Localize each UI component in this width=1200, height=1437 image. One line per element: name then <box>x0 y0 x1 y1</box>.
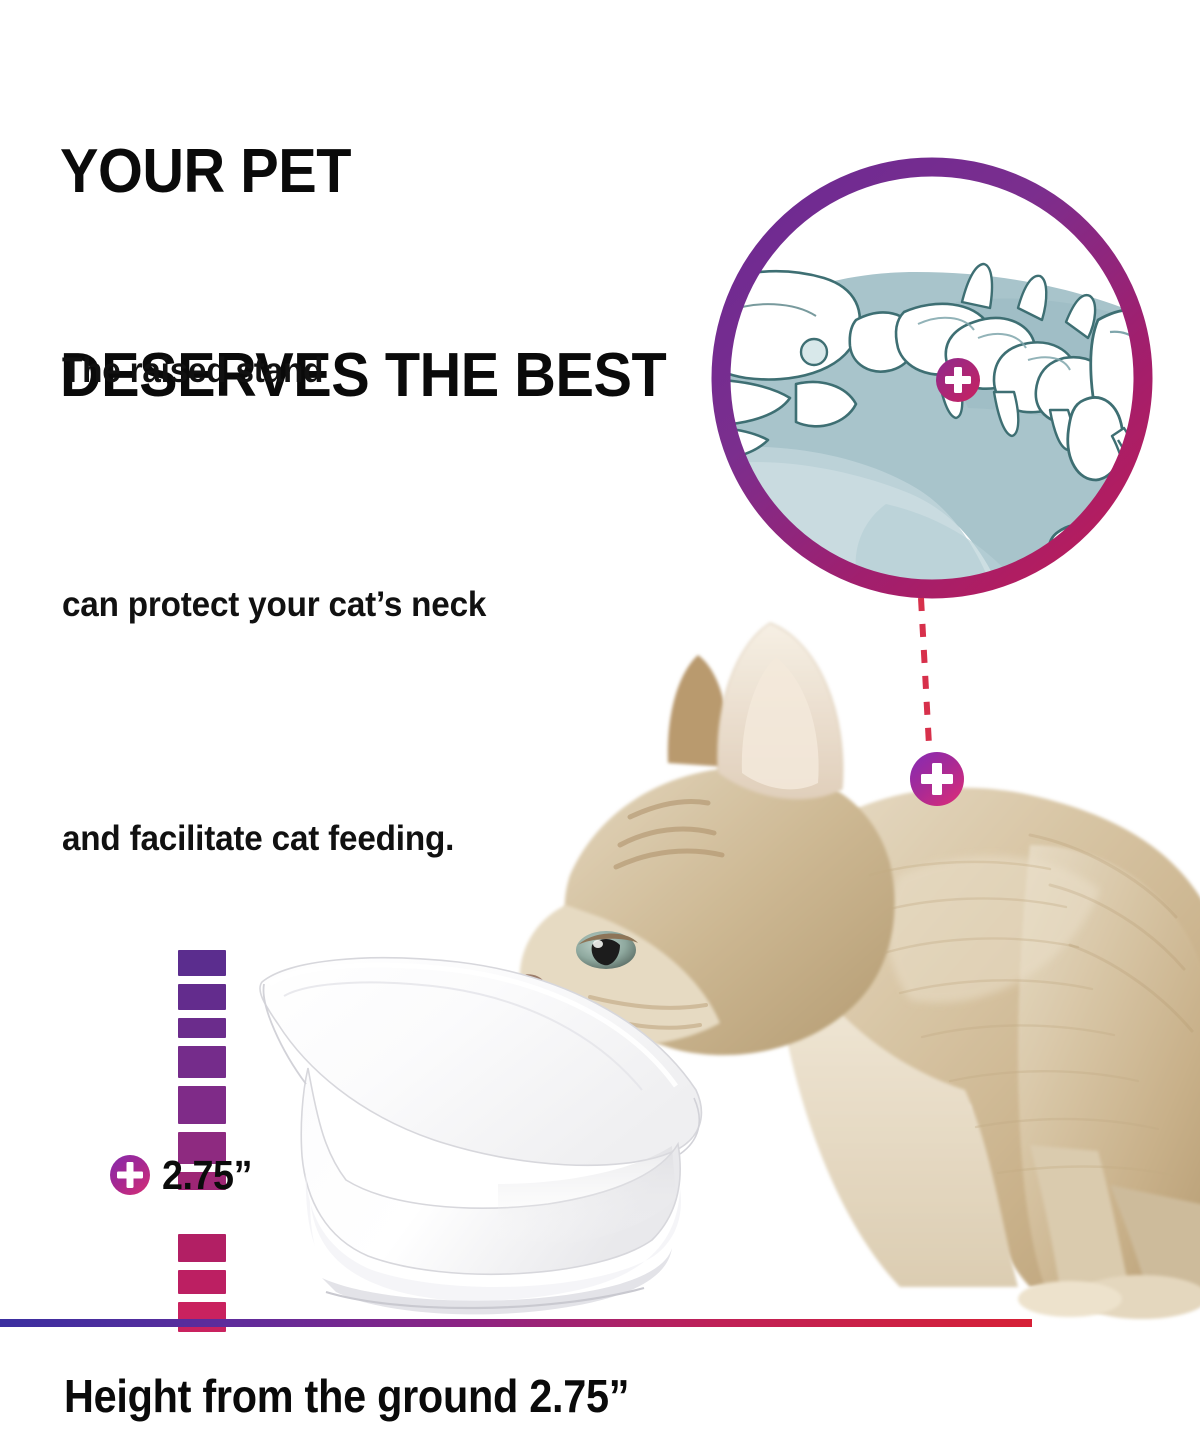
ruler-tick <box>178 1046 226 1078</box>
ruler-tick <box>178 1018 226 1038</box>
bottom-caption: Height from the ground 2.75” <box>64 1368 629 1424</box>
product-feature-graphic: YOUR PET DESERVES THE BEST The raised st… <box>0 0 1200 1437</box>
xray-illustration <box>706 152 1158 604</box>
pet-bowl-product <box>248 948 728 1328</box>
height-ruler <box>178 950 226 1318</box>
xray-plus-marker <box>936 358 980 402</box>
ruler-tick <box>178 1234 226 1262</box>
ruler-tick <box>178 950 226 976</box>
xray-inset-circle <box>706 152 1158 604</box>
ground-baseline <box>0 1315 1032 1325</box>
height-measurement-label: 2.75” <box>108 1152 260 1198</box>
ruler-tick <box>178 1270 226 1294</box>
neck-plus-marker <box>906 748 968 810</box>
ruler-tick <box>178 1086 226 1124</box>
height-value: 2.75” <box>162 1155 252 1196</box>
subcopy-line-1: The raised stand <box>62 332 670 410</box>
plus-badge-icon <box>108 1153 152 1197</box>
ruler-tick <box>178 984 226 1010</box>
